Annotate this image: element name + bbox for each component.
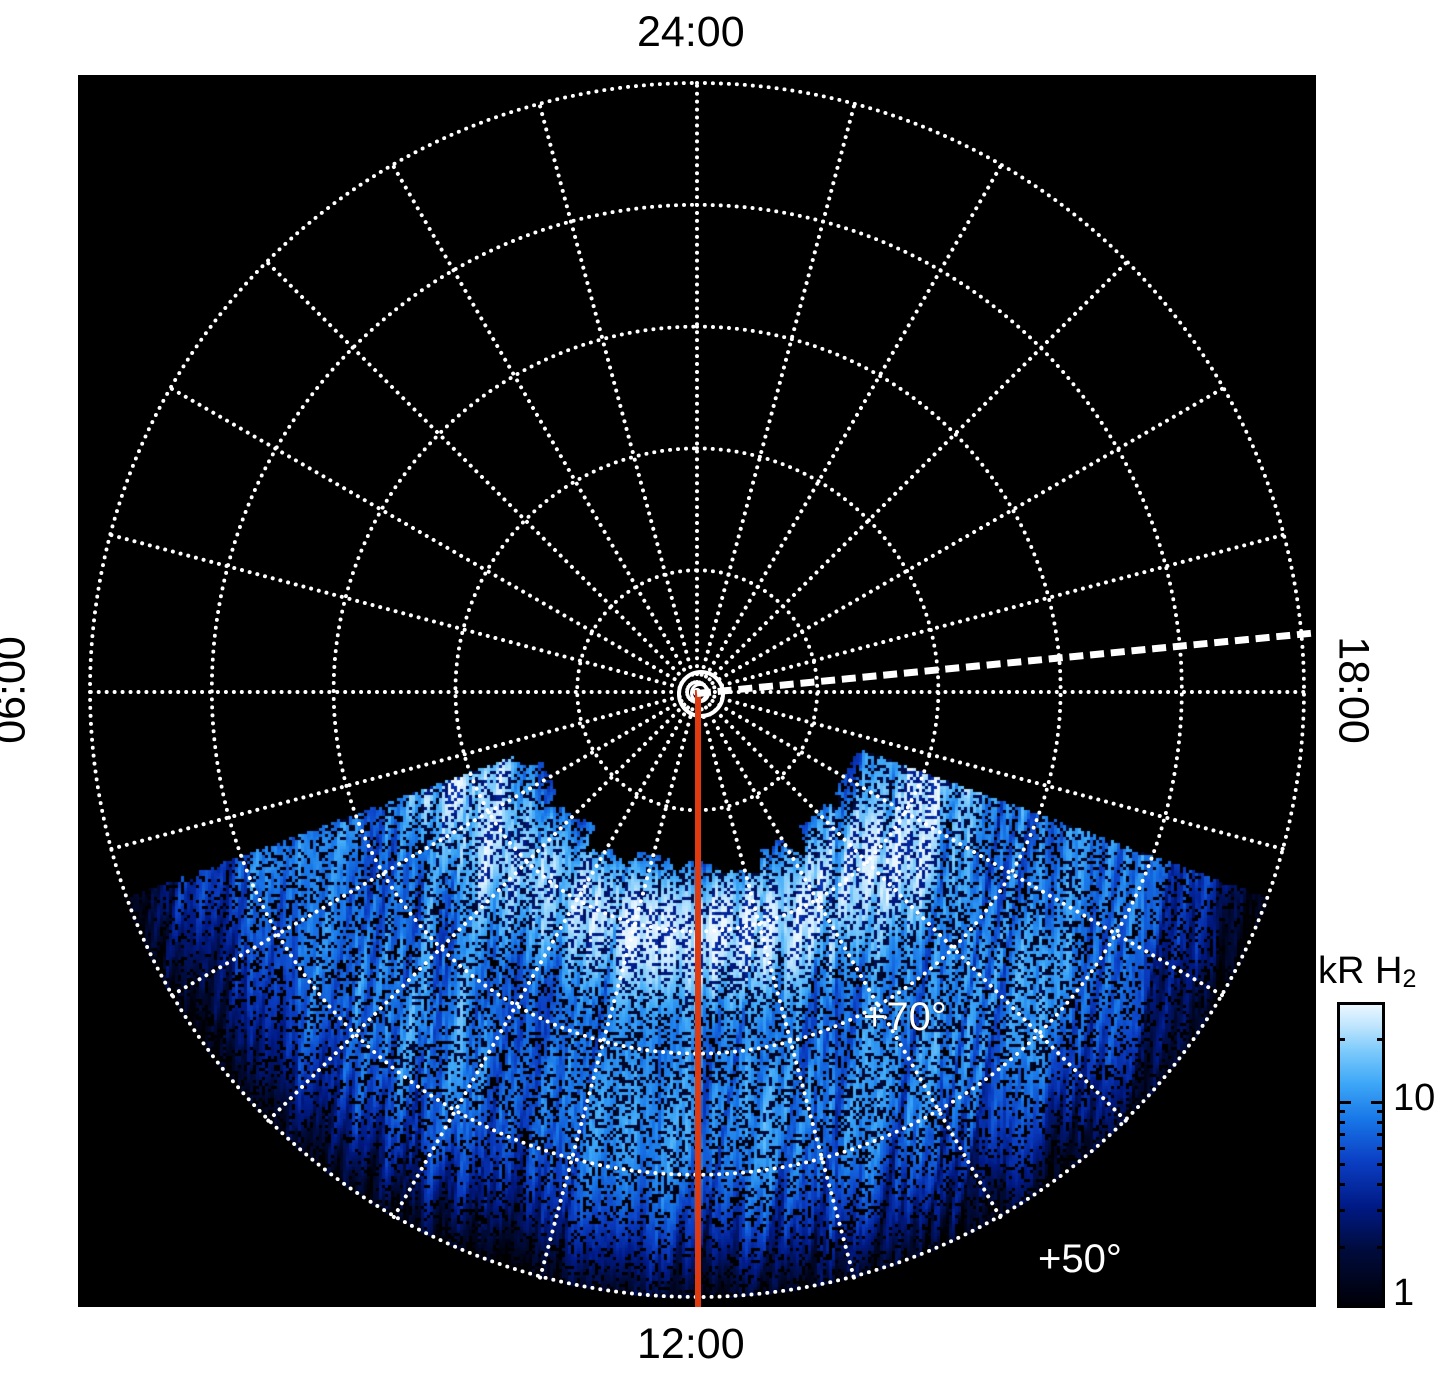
colorbar-tick-label-1: 1 bbox=[1393, 1272, 1414, 1315]
noon-meridian-line bbox=[695, 690, 701, 1307]
colorbar-tick-10 bbox=[1371, 1101, 1385, 1104]
mlt-spoke-18 bbox=[88, 690, 697, 694]
latitude-label-50: +50° bbox=[1038, 1237, 1122, 1282]
colorbar-tick-5 bbox=[1377, 1163, 1385, 1166]
colorbar-title-text: kR H bbox=[1318, 950, 1402, 992]
colorbar-gradient bbox=[1337, 1002, 1385, 1308]
colorbar-tick-4 bbox=[1337, 1183, 1345, 1186]
colorbar-tick-8 bbox=[1337, 1121, 1345, 1124]
colorbar-tick-3 bbox=[1337, 1209, 1345, 1212]
mlt-spoke-0 bbox=[695, 83, 699, 692]
mlt-spoke-6 bbox=[697, 690, 1306, 694]
latitude-label-70: +70° bbox=[863, 995, 947, 1040]
mlt-label-1200: 12:00 bbox=[637, 1320, 745, 1369]
mlt-label-1800: 18:00 bbox=[1328, 636, 1377, 744]
polar-plot-panel: +70° +50° bbox=[78, 75, 1316, 1307]
colorbar-tick-7 bbox=[1377, 1133, 1385, 1136]
colorbar-tick-8 bbox=[1377, 1121, 1385, 1124]
colorbar-tick-6 bbox=[1377, 1147, 1385, 1150]
colorbar-tick-20 bbox=[1337, 1038, 1345, 1041]
colorbar-tick-5 bbox=[1337, 1163, 1345, 1166]
colorbar-tick-30 bbox=[1337, 1002, 1345, 1005]
colorbar-tick-9 bbox=[1337, 1110, 1345, 1113]
colorbar-tick-9 bbox=[1377, 1110, 1385, 1113]
colorbar-tick-3 bbox=[1377, 1209, 1385, 1212]
colorbar-tick-2 bbox=[1337, 1246, 1345, 1249]
colorbar-tick-6 bbox=[1337, 1147, 1345, 1150]
colorbar-tick-30 bbox=[1377, 1002, 1385, 1005]
mlt-label-2400: 24:00 bbox=[637, 8, 745, 57]
mlt-label-0600: 06:00 bbox=[0, 636, 35, 744]
colorbar-tick-20 bbox=[1377, 1038, 1385, 1041]
colorbar-tick-label-10: 10 bbox=[1393, 1077, 1435, 1120]
colorbar-title-subscript: 2 bbox=[1402, 965, 1416, 993]
colorbar-title: kR H2 bbox=[1318, 950, 1416, 994]
colorbar-tick-2 bbox=[1377, 1246, 1385, 1249]
colorbar-tick-10 bbox=[1337, 1101, 1351, 1104]
colorbar-tick-7 bbox=[1337, 1133, 1345, 1136]
colorbar-tick-4 bbox=[1377, 1183, 1385, 1186]
